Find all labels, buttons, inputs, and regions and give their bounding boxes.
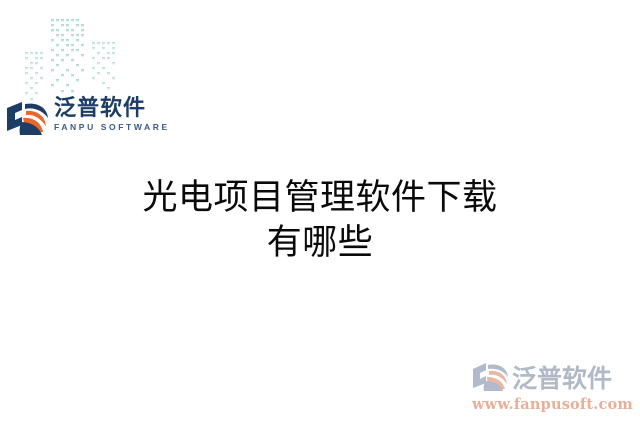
brand-name-en: FANPU SOFTWARE	[54, 122, 170, 132]
watermark-name-cn: 泛普软件	[512, 359, 612, 395]
fanpu-logo-icon	[6, 98, 50, 138]
slide-canvas: 泛普软件 FANPU SOFTWARE 光电项目管理软件下载 有哪些 泛普软件 …	[0, 0, 640, 427]
page-title-line-2: 有哪些	[0, 221, 640, 266]
watermark-url: www.fanpusoft.com	[472, 396, 632, 413]
fanpu-brand-logo: 泛普软件 FANPU SOFTWARE	[6, 97, 142, 147]
fanpu-brand-wordmark: 泛普软件 FANPU SOFTWARE	[54, 97, 170, 132]
page-title: 光电项目管理软件下载 有哪些	[0, 176, 640, 266]
fanpu-watermark: 泛普软件 www.fanpusoft.com	[472, 359, 632, 417]
fanpu-watermark-logo-icon	[472, 360, 510, 394]
page-title-line-1: 光电项目管理软件下载	[0, 176, 640, 221]
watermark-logo-row: 泛普软件	[472, 359, 632, 395]
brand-name-cn: 泛普软件	[54, 97, 170, 120]
